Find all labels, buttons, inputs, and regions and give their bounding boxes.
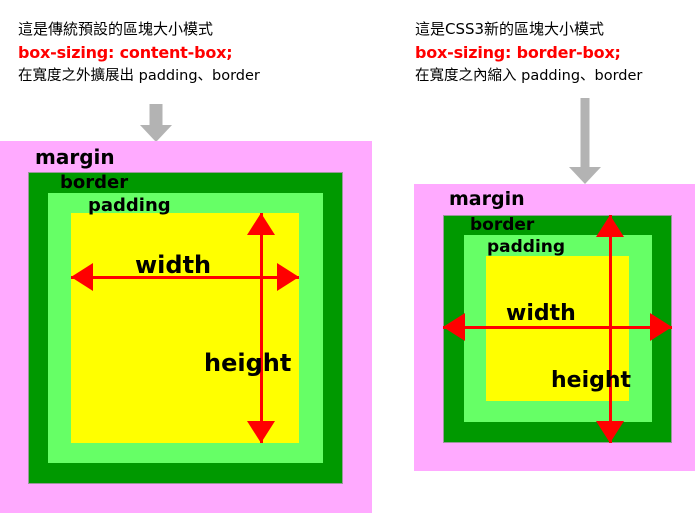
height-measure-arrow — [596, 215, 624, 443]
caption-title-line: 這是傳統預設的區塊大小模式 — [18, 22, 260, 37]
arrow-head-bottom — [596, 421, 624, 443]
height-label: height — [204, 351, 291, 375]
height-label: height — [551, 370, 631, 392]
arrow-shaft — [150, 104, 163, 126]
height-measure-arrow — [247, 213, 275, 443]
caption-description-line: 在寬度之外擴展出 padding、border — [18, 69, 260, 84]
down-arrow-icon — [140, 104, 172, 142]
down-arrow-icon — [569, 98, 601, 184]
caption-code-line: box-sizing: content-box; — [18, 45, 260, 61]
arrow-head-right — [277, 263, 299, 291]
padding-label: padding — [487, 239, 565, 256]
arrow-head-top — [596, 215, 624, 237]
width-label: width — [135, 253, 211, 277]
content-box-caption: 這是傳統預設的區塊大小模式 box-sizing: content-box; 在… — [18, 22, 260, 84]
arrow-line — [260, 213, 263, 443]
arrow-head — [569, 167, 601, 184]
arrow-head-left — [443, 313, 465, 341]
arrow-shaft — [581, 98, 590, 168]
arrow-head-bottom — [247, 421, 275, 443]
border-label: border — [470, 217, 534, 234]
margin-label: margin — [35, 147, 115, 167]
caption-code-line: box-sizing: border-box; — [415, 45, 642, 61]
width-label: width — [506, 303, 576, 325]
margin-label: margin — [449, 190, 525, 209]
padding-label: padding — [88, 197, 171, 215]
arrow-head-right — [650, 313, 672, 341]
arrow-head-top — [247, 213, 275, 235]
caption-title-line: 這是CSS3新的區塊大小模式 — [415, 22, 642, 37]
border-label: border — [60, 174, 128, 192]
border-box-caption: 這是CSS3新的區塊大小模式 box-sizing: border-box; 在… — [415, 22, 642, 84]
caption-description-line: 在寬度之內縮入 padding、border — [415, 69, 642, 84]
content-box-panel: 這是傳統預設的區塊大小模式 box-sizing: content-box; 在… — [0, 0, 400, 514]
arrow-head-left — [71, 263, 93, 291]
arrow-head — [140, 125, 172, 142]
arrow-line — [609, 215, 612, 443]
